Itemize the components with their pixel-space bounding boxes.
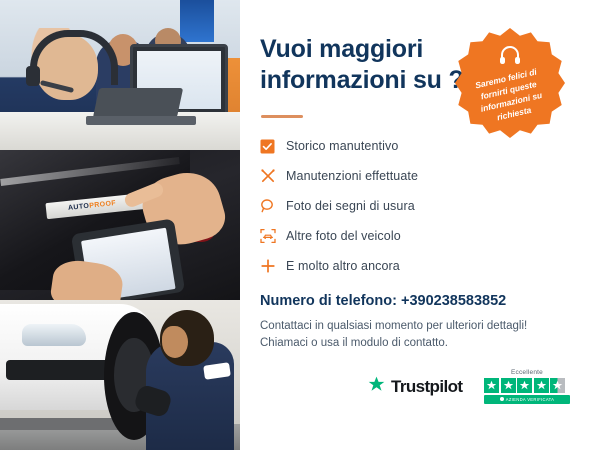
promo-banner: AUTOPROOF Vuoi maggiori informazioni su …	[0, 0, 600, 450]
list-item: E molto altro ancora	[260, 253, 510, 279]
request-info-badge: Saremo felici di fornirti queste informa…	[455, 28, 565, 138]
headset-icon	[499, 45, 521, 70]
tools-cross-icon	[260, 168, 286, 184]
page-title: Vuoi maggiori informazioni su ?	[260, 34, 480, 96]
feature-list: Storico manutentivo Manutenzioni effettu…	[260, 133, 510, 283]
star-filled	[517, 378, 532, 393]
wall-banner	[180, 0, 214, 42]
car-frame-icon	[260, 228, 286, 244]
contact-subtext-line-2: Chiamaci o usa il modulo di contatto.	[260, 335, 560, 352]
trustpilot-star-icon	[368, 376, 385, 398]
star-filled	[484, 378, 499, 393]
checked-box-icon	[260, 139, 286, 154]
paint-gauge-photo: AUTOPROOF	[0, 150, 240, 300]
headset-earcup-icon	[26, 66, 40, 86]
list-item: Altre foto del veicolo	[260, 223, 510, 249]
star-filled	[501, 378, 516, 393]
contact-subtext-line-1: Contattaci in qualsiasi momento per ulte…	[260, 318, 560, 335]
photo-column: AUTOPROOF	[0, 0, 240, 450]
trustpilot-wordmark: Trustpilot	[391, 377, 462, 397]
verified-label: AZIENDA VERIFICATA	[506, 397, 555, 402]
list-item-label: Foto dei segni di usura	[286, 199, 415, 213]
content-panel: Vuoi maggiori informazioni su ? Saremo f…	[240, 0, 600, 450]
magnifier-icon	[260, 198, 286, 214]
list-item-label: Storico manutentivo	[286, 139, 398, 153]
call-center-photo	[0, 0, 240, 150]
trustpilot-logo[interactable]: Trustpilot	[368, 376, 462, 398]
list-item-label: Altre foto del veicolo	[286, 229, 401, 243]
list-item: Manutenzioni effettuate	[260, 163, 510, 189]
mechanic-lift-photo	[0, 300, 240, 450]
laptop-base	[86, 116, 196, 125]
verified-company-badge: AZIENDA VERIFICATA	[484, 395, 570, 404]
star-half	[550, 378, 565, 393]
list-item: Storico manutentivo	[260, 133, 510, 159]
list-item-label: E molto altro ancora	[286, 259, 400, 273]
title-divider	[261, 115, 303, 118]
trustpilot-rating: Eccellente AZIEND	[484, 369, 570, 404]
list-item-label: Manutenzioni effettuate	[286, 169, 418, 183]
list-item: Foto dei segni di usura	[260, 193, 510, 219]
star-filled	[534, 378, 549, 393]
phone-line[interactable]: Numero di telefono: +390238583852	[260, 293, 506, 309]
laptop-screen	[93, 88, 183, 118]
lift-arm	[0, 418, 120, 430]
headlight	[22, 324, 86, 346]
rating-label: Eccellente	[484, 369, 570, 376]
headset-band-icon	[30, 30, 118, 85]
verified-check-icon	[500, 397, 504, 401]
star-rating	[484, 378, 570, 393]
contact-subtext: Contattaci in qualsiasi momento per ulte…	[260, 318, 560, 352]
plus-icon	[260, 258, 286, 274]
mechanic-face	[162, 326, 188, 358]
